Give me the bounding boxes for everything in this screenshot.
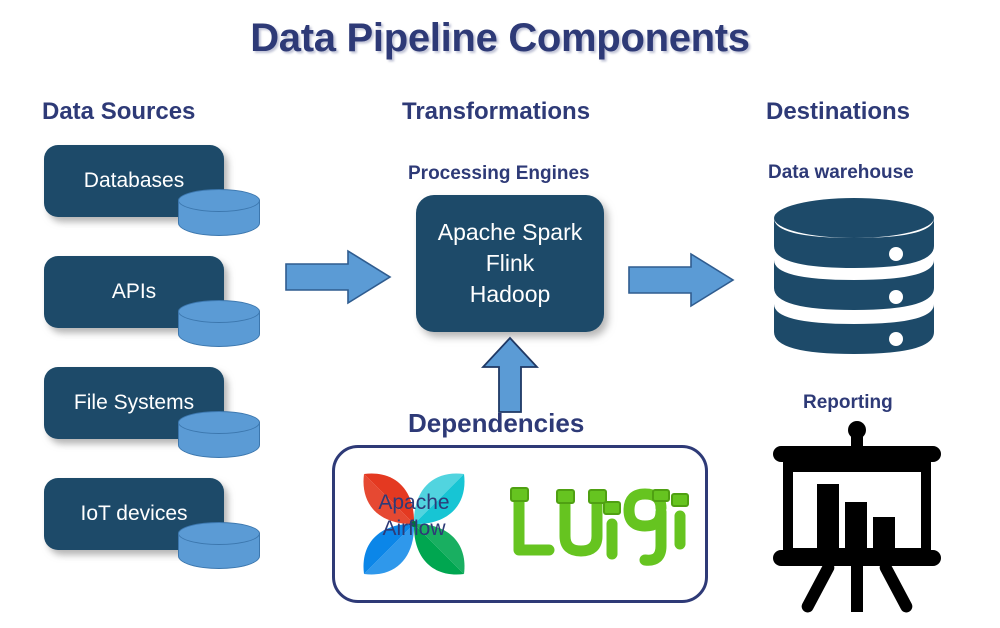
processing-engines-header: Processing Engines — [408, 163, 590, 185]
column-header-destinations: Destinations — [766, 98, 910, 126]
airflow-pinwheel-logo[interactable] — [355, 468, 473, 580]
dependencies-header: Dependencies — [408, 408, 584, 439]
database-cylinder-icon — [178, 300, 262, 354]
database-stack-icon — [768, 192, 940, 362]
page-title: Data Pipeline Components — [0, 16, 1000, 61]
diagram-canvas: Data Pipeline Components Data Sources Tr… — [0, 0, 1000, 628]
luigi-pipes-logo[interactable] — [505, 478, 691, 570]
column-header-transformations: Transformations — [402, 98, 590, 126]
data-warehouse-label: Data warehouse — [768, 162, 914, 184]
source-label-databases: Databases — [84, 169, 184, 193]
database-cylinder-icon — [178, 411, 262, 465]
source-label-apis: APIs — [112, 280, 156, 304]
engine-label-hadoop: Hadoop — [470, 279, 551, 310]
database-cylinder-icon — [178, 189, 262, 243]
column-header-data-sources: Data Sources — [42, 98, 195, 126]
transformations-to-destinations-arrow — [627, 251, 735, 309]
sources-to-transformations-arrow — [284, 248, 392, 306]
processing-engines-box[interactable]: Apache Spark Flink Hadoop — [416, 195, 604, 332]
database-cylinder-icon — [178, 522, 262, 576]
reporting-label: Reporting — [803, 392, 893, 414]
presentation-bar-chart-icon — [757, 420, 957, 616]
dependencies-to-engines-arrow — [481, 336, 539, 414]
engine-label-flink: Flink — [486, 248, 535, 279]
engine-label-spark: Apache Spark — [438, 217, 582, 248]
source-label-file-systems: File Systems — [74, 391, 194, 415]
source-label-iot-devices: IoT devices — [81, 502, 188, 526]
